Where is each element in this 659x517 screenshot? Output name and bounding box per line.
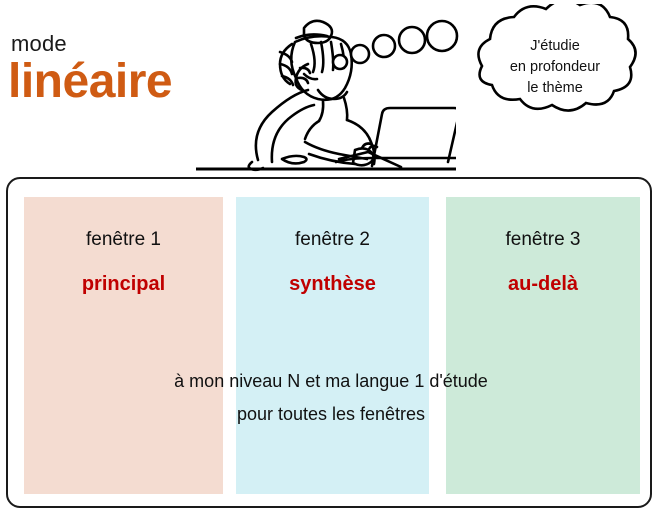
- window-column-2[interactable]: fenêtre 2 synthèse: [236, 197, 429, 494]
- thought-bubble-text: J'étudie en profondeur le thème: [480, 36, 630, 99]
- window-column-2-keyword: synthèse: [236, 273, 429, 296]
- window-column-3-header: fenêtre 3: [446, 229, 640, 251]
- window-column-3[interactable]: fenêtre 3 au-delà: [446, 197, 640, 494]
- window-column-2-header: fenêtre 2: [236, 229, 429, 251]
- window-column-3-keyword: au-delà: [446, 273, 640, 296]
- thought-line-2: en profondeur: [480, 57, 630, 78]
- thought-line-3: le thème: [480, 78, 630, 99]
- mode-label: mode: [11, 31, 67, 57]
- window-column-1-keyword: principal: [24, 273, 223, 296]
- windows-panel-box: fenêtre 1 principal fenêtre 2 synthèse f…: [6, 177, 652, 508]
- thought-line-1: J'étudie: [480, 36, 630, 57]
- header-area: mode linéaire: [0, 0, 659, 177]
- page-title: linéaire: [8, 58, 172, 106]
- window-column-1[interactable]: fenêtre 1 principal: [24, 197, 223, 494]
- window-column-1-header: fenêtre 1: [24, 229, 223, 251]
